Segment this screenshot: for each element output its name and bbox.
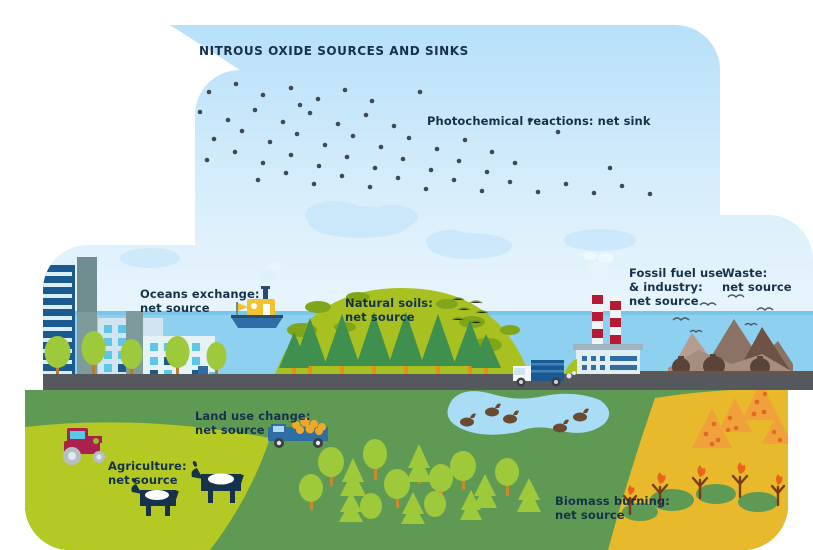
- label-photochemical-reactions: Photochemical reactions: net sink: [427, 114, 651, 128]
- label-waste: Waste: net source: [722, 266, 792, 294]
- label-natural-soils: Natural soils: net source: [345, 296, 433, 324]
- label-oceans-exchange: Oceans exchange: net source: [140, 287, 260, 315]
- label-fossil-fuel-industry: Fossil fuel use & industry: net source: [629, 266, 723, 308]
- page-title: NITROUS OXIDE SOURCES AND SINKS: [199, 44, 469, 58]
- label-agriculture: Agriculture: net source: [108, 459, 187, 487]
- infographic-canvas: NITROUS OXIDE SOURCES AND SINKS Photoche…: [0, 0, 813, 550]
- label-biomass-burning: Biomass burning: net source: [555, 494, 670, 522]
- road: [0, 374, 813, 390]
- label-land-use-change: Land use change: net source: [195, 409, 311, 437]
